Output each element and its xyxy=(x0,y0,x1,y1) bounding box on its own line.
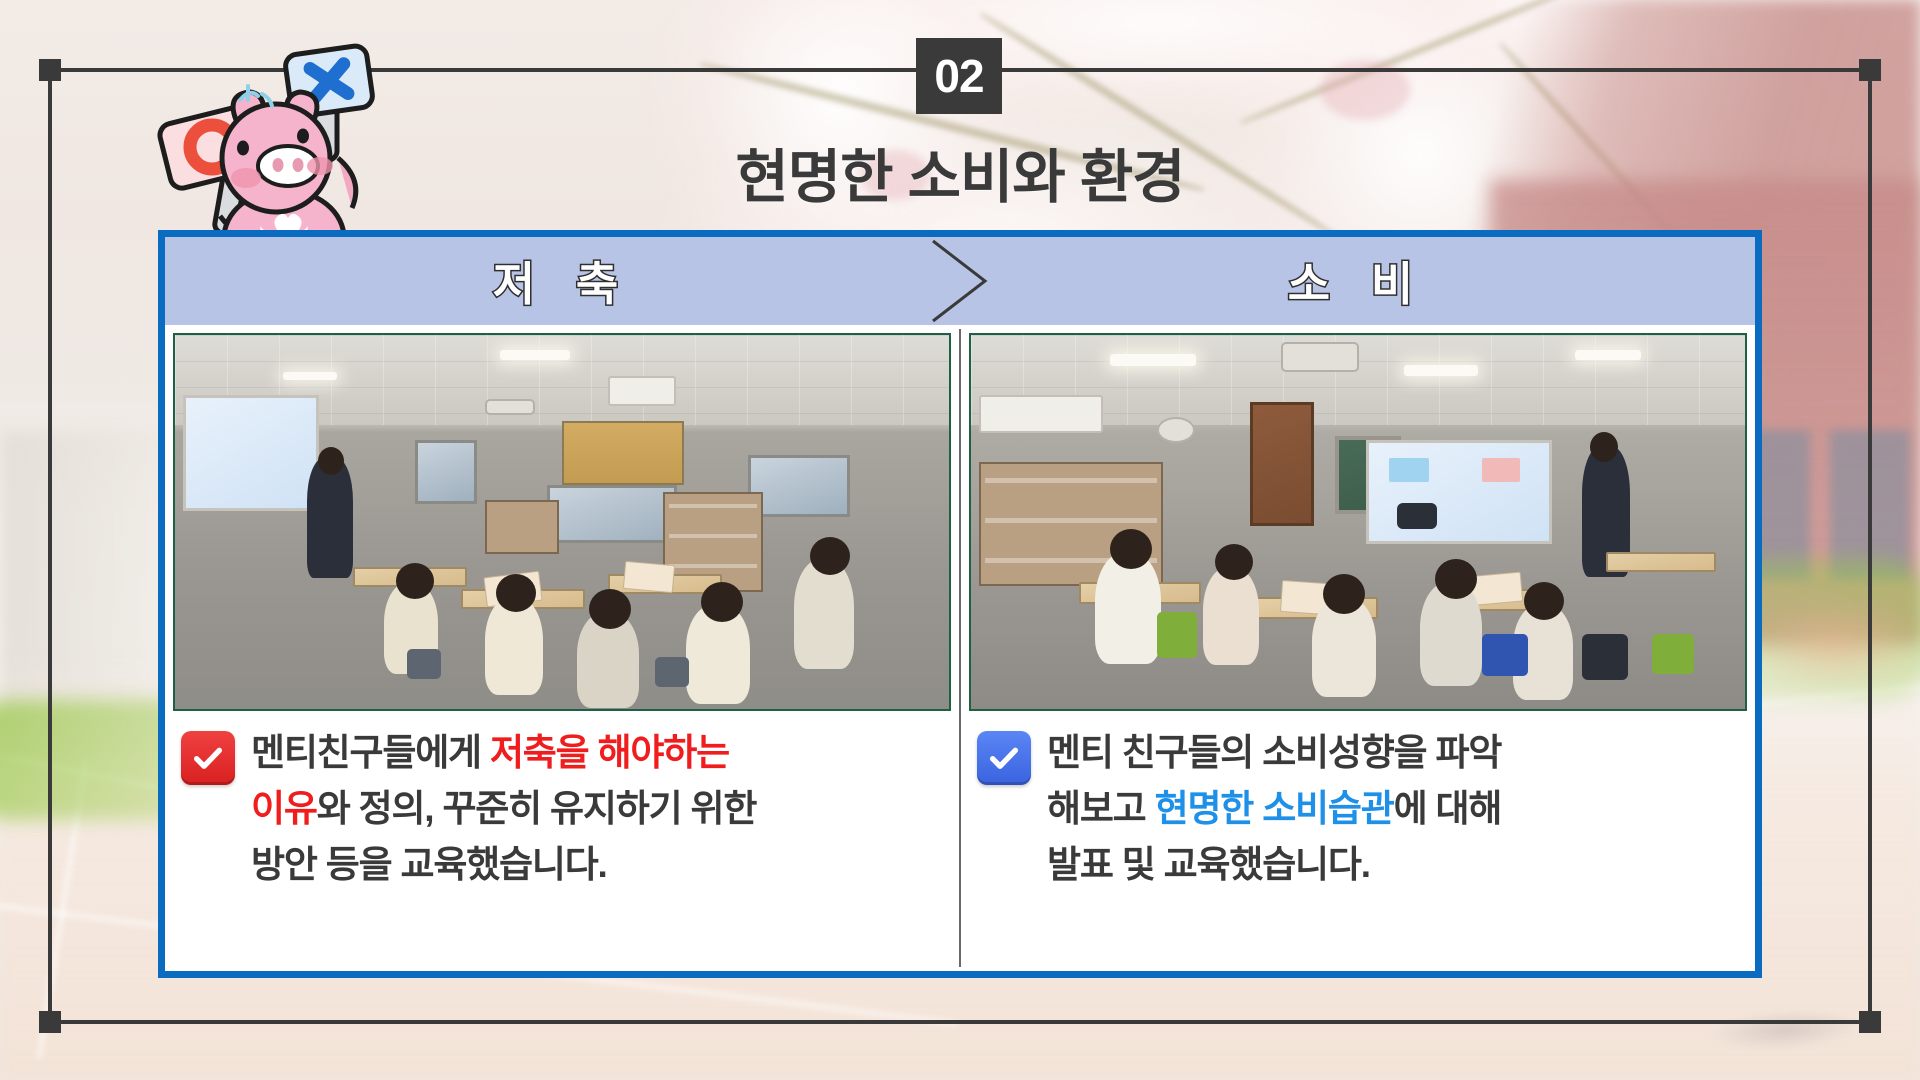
column-spending: 멘티 친구들의 소비성향을 파악해보고 현명한 소비습관에 대해발표 및 교육했… xyxy=(961,325,1755,971)
column-header-spending: 소 비 xyxy=(960,237,1755,325)
classroom-door xyxy=(1250,402,1314,526)
chevron-right-divider-icon xyxy=(929,237,991,325)
wall-vent xyxy=(608,376,676,406)
projector xyxy=(1281,342,1359,372)
caption-run: 이유 xyxy=(251,788,317,829)
backpack xyxy=(1582,634,1628,680)
caption-run: 저축을 해야하는 xyxy=(490,732,729,773)
caption-line: 멘티친구들에게 저축을 해야하는 xyxy=(251,725,756,781)
caption-line: 멘티 친구들의 소비성향을 파악 xyxy=(1047,725,1501,781)
caption-line: 이유와 정의, 꾸준히 유지하기 위한 xyxy=(251,781,756,837)
content-card: 저 축 소 비 xyxy=(158,230,1762,978)
student-head xyxy=(1215,544,1253,580)
caption-run: 멘티친구들에게 xyxy=(251,732,490,773)
ceiling-light xyxy=(1404,365,1478,376)
student-head xyxy=(701,582,743,622)
chair xyxy=(1482,634,1528,676)
student-head xyxy=(810,537,850,575)
student-head xyxy=(396,563,434,599)
caption-run: 에 대해 xyxy=(1394,788,1502,829)
photo-saving-class xyxy=(173,333,951,711)
slide-graphic xyxy=(1482,458,1520,482)
caption-run: 현명한 소비습관 xyxy=(1155,788,1394,829)
window xyxy=(547,485,677,543)
card-header-band: 저 축 소 비 xyxy=(165,237,1755,325)
ceiling-light xyxy=(1575,350,1641,360)
window xyxy=(748,455,850,517)
student xyxy=(1203,567,1259,665)
chair xyxy=(1652,634,1694,674)
caption-run: 멘티 친구들의 소비성향을 파악 xyxy=(1047,732,1501,773)
check-glyph xyxy=(191,741,225,775)
check-glyph xyxy=(987,741,1021,775)
check-icon-blue xyxy=(977,731,1031,785)
card-body: 멘티친구들에게 저축을 해야하는이유와 정의, 꾸준히 유지하기 위한방안 등을… xyxy=(165,325,1755,971)
caption-line: 해보고 현명한 소비습관에 대해 xyxy=(1047,781,1501,837)
column-header-saving: 저 축 xyxy=(165,237,960,325)
photo-spending-class xyxy=(969,333,1747,711)
air-conditioner xyxy=(979,395,1103,433)
building-window xyxy=(1830,430,1910,580)
caption-saving: 멘티친구들에게 저축을 해야하는이유와 정의, 꾸준히 유지하기 위한방안 등을… xyxy=(165,711,959,971)
chair xyxy=(1157,612,1197,658)
backpack xyxy=(1397,503,1437,529)
student xyxy=(794,559,854,669)
caption-line: 방안 등을 교육했습니다. xyxy=(251,837,756,893)
projection-screen xyxy=(1366,440,1552,544)
caption-run: 발표 및 교육했습니다. xyxy=(1047,844,1370,885)
caption-run: 방안 등을 교육했습니다. xyxy=(251,844,607,885)
caption-saving-text: 멘티친구들에게 저축을 해야하는이유와 정의, 꾸준히 유지하기 위한방안 등을… xyxy=(251,725,756,894)
ceiling-fan xyxy=(485,399,535,415)
caption-run: 해보고 xyxy=(1047,788,1155,829)
caption-run: 와 정의, 꾸준히 유지하기 위한 xyxy=(317,788,756,829)
caption-spending-text: 멘티 친구들의 소비성향을 파악해보고 현명한 소비습관에 대해발표 및 교육했… xyxy=(1047,725,1501,894)
blossom-petal xyxy=(1320,60,1410,120)
caption-line: 발표 및 교육했습니다. xyxy=(1047,837,1501,893)
bookshelf xyxy=(485,500,559,554)
student-head xyxy=(1524,582,1564,620)
section-number-badge: 02 xyxy=(916,38,1002,114)
window xyxy=(415,440,477,504)
ceiling-light xyxy=(500,350,570,360)
caption-spending: 멘티 친구들의 소비성향을 파악해보고 현명한 소비습관에 대해발표 및 교육했… xyxy=(961,711,1755,971)
section-number-label: 02 xyxy=(934,49,983,103)
wall-speaker xyxy=(1157,417,1195,443)
worksheet xyxy=(623,561,675,593)
flower-bed xyxy=(1740,600,1920,690)
projection-screen xyxy=(183,395,319,511)
chair xyxy=(655,657,689,687)
window-blind xyxy=(562,421,684,485)
teacher xyxy=(307,458,353,578)
teacher-desk xyxy=(1606,552,1716,572)
ceiling-light xyxy=(283,372,337,380)
column-saving: 멘티친구들에게 저축을 해야하는이유와 정의, 꾸준히 유지하기 위한방안 등을… xyxy=(165,325,959,971)
chair xyxy=(407,649,441,679)
check-icon-red xyxy=(181,731,235,785)
slide-graphic xyxy=(1389,458,1429,482)
ceiling-light xyxy=(1110,354,1196,366)
